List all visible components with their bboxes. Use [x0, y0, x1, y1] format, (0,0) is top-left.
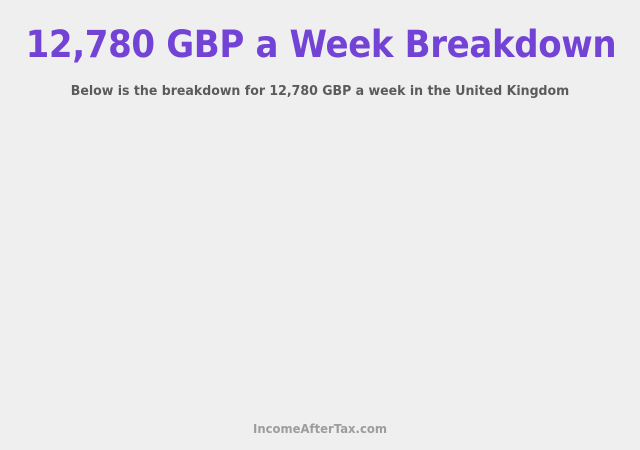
- site-footer: IncomeAfterTax.com: [0, 421, 640, 437]
- page-title: 12,780 GBP a Week Breakdown: [26, 22, 615, 68]
- footer-site-name: IncomeAfterTax.com: [22, 421, 617, 437]
- content-area: [0, 120, 640, 405]
- page-root: 12,780 GBP a Week Breakdown Below is the…: [0, 0, 640, 450]
- page-header: 12,780 GBP a Week Breakdown Below is the…: [0, 0, 640, 100]
- page-subtitle: Below is the breakdown for 12,780 GBP a …: [22, 68, 617, 100]
